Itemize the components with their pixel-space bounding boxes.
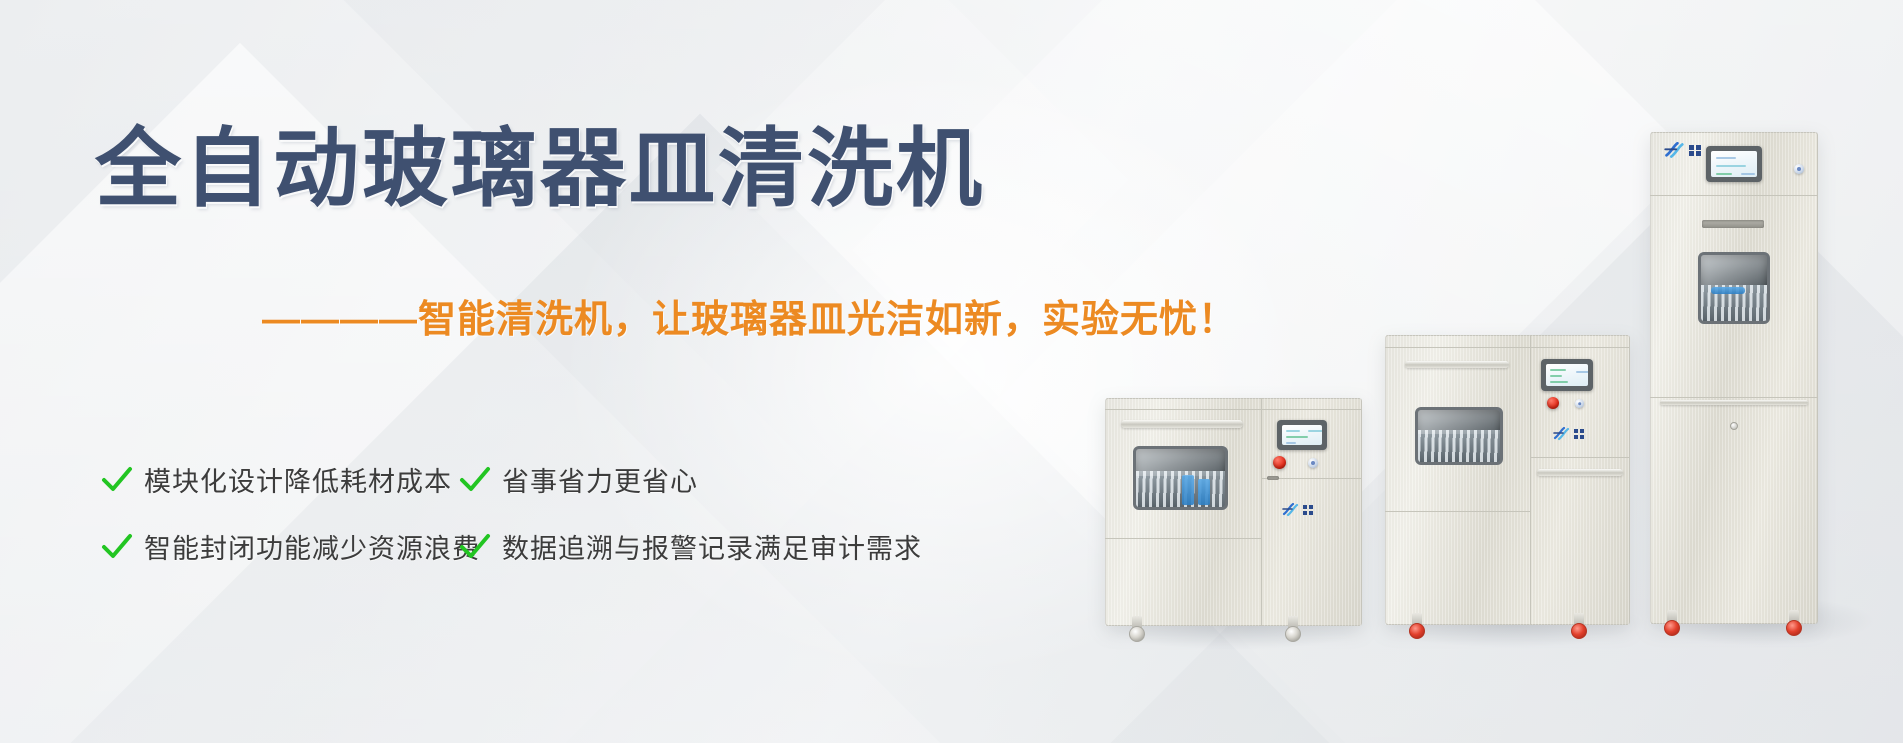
caster-wheel [1664, 610, 1680, 636]
power-button[interactable] [1308, 458, 1318, 468]
vent-slot [1267, 476, 1279, 480]
control-touchscreen[interactable] [1541, 359, 1593, 391]
product-image-tall-cabinet-washer [1650, 132, 1818, 624]
panel-seam [1650, 195, 1818, 196]
panel-seam [1650, 397, 1818, 398]
product-image-freestanding-washer [1385, 335, 1630, 625]
feature-label: 数据追溯与报警记录满足审计需求 [502, 527, 922, 566]
glassware-load [1418, 430, 1500, 462]
viewing-window [1133, 446, 1228, 510]
glassware-item [1182, 475, 1194, 505]
panel-seam [1530, 457, 1630, 458]
power-button[interactable] [1575, 399, 1584, 408]
screen-display [1711, 151, 1757, 177]
glassware-load [1136, 471, 1225, 507]
screen-display [1282, 425, 1322, 445]
viewing-window [1415, 407, 1503, 465]
feature-label: 模块化设计降低耗材成本 [144, 460, 452, 499]
control-touchscreen[interactable] [1706, 146, 1762, 182]
emergency-stop-button[interactable] [1273, 456, 1286, 469]
check-icon [458, 530, 492, 564]
check-icon [458, 463, 492, 497]
check-icon [100, 463, 134, 497]
brand-logo [1664, 142, 1701, 159]
lower-door-handle[interactable] [1537, 469, 1623, 476]
window-reflection [1418, 410, 1500, 434]
panel-seam [1261, 398, 1262, 626]
caster-wheel [1129, 616, 1145, 642]
feature-item: 智能封闭功能减少资源浪费 [100, 527, 458, 566]
feature-label: 省事省力更省心 [502, 460, 698, 499]
panel-seam [1105, 409, 1362, 410]
brushed-steel-texture [1385, 335, 1630, 625]
viewing-window [1698, 252, 1770, 324]
glassware-item [1711, 287, 1745, 294]
feature-list: 模块化设计降低耗材成本 省事省力更省心 [100, 460, 1100, 594]
logo-squares [1689, 145, 1701, 157]
feature-row: 智能封闭功能减少资源浪费 数据追溯与报警记录满足审计需求 [100, 527, 1100, 566]
panel-seam [1530, 335, 1531, 625]
logo-squares [1574, 429, 1584, 439]
feature-label: 智能封闭功能减少资源浪费 [144, 527, 480, 566]
banner-copy: 全自动玻璃器皿清洗机 ————智能清洗机，让玻璃器皿光洁如新，实验无忧！ 模块化… [0, 0, 1120, 743]
lower-door-handle[interactable] [1660, 400, 1808, 405]
page-title: 全自动玻璃器皿清洗机 [95, 98, 985, 223]
caster-wheel [1786, 610, 1802, 636]
control-touchscreen[interactable] [1277, 420, 1327, 450]
door-handle[interactable] [1121, 420, 1243, 428]
window-reflection [1136, 449, 1225, 476]
logo-squares [1303, 505, 1313, 515]
panel-seam [1385, 511, 1530, 512]
product-image-undercounter-washer [1105, 398, 1362, 626]
window-reflection [1701, 255, 1767, 285]
brushed-steel-texture [1650, 132, 1818, 624]
power-button[interactable] [1794, 164, 1804, 174]
screen-display [1546, 364, 1588, 386]
panel-seam [1105, 538, 1261, 539]
caster-wheel [1409, 613, 1425, 639]
glassware-item [1198, 479, 1210, 505]
vent-slot [1702, 220, 1764, 228]
feature-row: 模块化设计降低耗材成本 省事省力更省心 [100, 460, 1100, 499]
latch-knob[interactable] [1730, 422, 1738, 430]
panel-seam [1385, 347, 1630, 348]
caster-wheel [1571, 613, 1587, 639]
product-image-group [1085, 0, 1903, 743]
feature-item: 数据追溯与报警记录满足审计需求 [458, 527, 922, 566]
caster-wheel [1285, 616, 1301, 642]
feature-item: 模块化设计降低耗材成本 [100, 460, 458, 499]
brand-logo [1553, 427, 1584, 441]
door-handle[interactable] [1405, 361, 1509, 368]
product-hero-banner: 全自动玻璃器皿清洗机 ————智能清洗机，让玻璃器皿光洁如新，实验无忧！ 模块化… [0, 0, 1903, 743]
check-icon [100, 530, 134, 564]
feature-item: 省事省力更省心 [458, 460, 698, 499]
emergency-stop-button[interactable] [1547, 397, 1559, 409]
brand-logo [1282, 503, 1313, 517]
